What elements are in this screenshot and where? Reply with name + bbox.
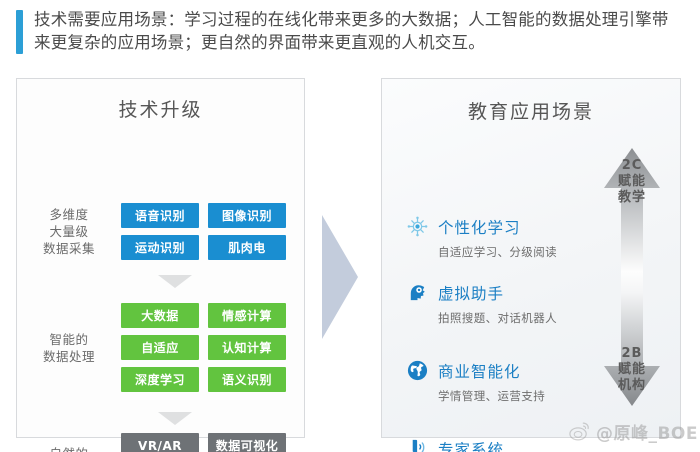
chip[interactable]: 情感计算: [208, 303, 286, 328]
tier-chips: 语音识别 图像识别 运动识别 肌肉电: [121, 203, 293, 260]
tier-data-collection: 多维度大量级数据采集 语音识别 图像识别 运动识别 肌肉电: [17, 203, 306, 260]
tier-chips: VR/AR 数据可视化 机器人 3D打印: [121, 433, 293, 452]
scene-subtitle: 自适应学习、分级阅读: [438, 244, 616, 260]
network-nodes-icon: [406, 215, 429, 238]
chip[interactable]: 语音识别: [121, 203, 199, 228]
scene-title: 商业智能化: [438, 360, 521, 382]
header-text: 技术需要应用场景：学习过程的在线化带来更多的大数据；人工智能的数据处理引擎带来更…: [34, 8, 684, 54]
chip[interactable]: 数据可视化: [208, 433, 286, 452]
scene-title: 个性化学习: [438, 216, 521, 238]
chip[interactable]: 运动识别: [121, 235, 199, 260]
scene-subtitle: 学情管理、运营支持: [438, 388, 616, 404]
double-headed-vertical-arrow-icon: 2C赋能教学 2B赋能机构: [604, 148, 660, 406]
down-arrow-icon: [158, 275, 192, 288]
chip[interactable]: 认知计算: [208, 335, 286, 360]
left-panel-title: 技术升级: [17, 95, 304, 122]
chip[interactable]: VR/AR: [121, 433, 199, 452]
tier-human-interface: 自然的人机界面 VR/AR 数据可视化 机器人 3D打印: [17, 433, 306, 452]
chip[interactable]: 自适应: [121, 335, 199, 360]
arrow-bottom-label: 2B赋能机构: [604, 346, 660, 394]
infographic-page: 技术需要应用场景：学习过程的在线化带来更多的大数据；人工智能的数据处理引擎带来更…: [0, 0, 700, 452]
down-arrow-icon: [158, 412, 192, 425]
tier-data-processing: 智能的数据处理 大数据 情感计算 自适应 认知计算 深度学习 语义识别: [17, 303, 306, 392]
speaker-person-icon: [406, 437, 429, 452]
head-gear-icon: [406, 281, 429, 304]
weibo-icon: [568, 420, 591, 443]
tier-label: 自然的人机界面: [17, 445, 121, 452]
scene-virtual-assistant[interactable]: 虚拟助手 拍照搜题、对话机器人: [406, 281, 616, 326]
scene-title: 虚拟助手: [438, 282, 504, 304]
chip[interactable]: 肌肉电: [208, 235, 286, 260]
right-panel-title: 教育应用场景: [382, 97, 680, 124]
watermark: @原峰_BOE: [568, 419, 698, 444]
chip[interactable]: 图像识别: [208, 203, 286, 228]
globe-icon: [406, 359, 429, 382]
scene-personalized-learning[interactable]: 个性化学习 自适应学习、分级阅读: [406, 215, 616, 260]
header: 技术需要应用场景：学习过程的在线化带来更多的大数据；人工智能的数据处理引擎带来更…: [0, 0, 700, 62]
tier-chips: 大数据 情感计算 自适应 认知计算 深度学习 语义识别: [121, 303, 293, 392]
right-triangle-arrow-icon: [322, 215, 358, 339]
chip[interactable]: 语义识别: [208, 367, 286, 392]
scene-subtitle: 拍照搜题、对话机器人: [438, 310, 616, 326]
tier-label: 智能的数据处理: [17, 331, 121, 365]
accent-bar: [16, 10, 23, 54]
left-panel: 技术升级 多维度大量级数据采集 语音识别 图像识别 运动识别 肌肉电 智能的数据…: [16, 78, 305, 438]
chip[interactable]: 深度学习: [121, 367, 199, 392]
scene-title: 专家系统: [438, 438, 504, 452]
scene-business-intelligence[interactable]: 商业智能化 学情管理、运营支持: [406, 359, 616, 404]
tier-label: 多维度大量级数据采集: [17, 206, 121, 257]
watermark-text: @原峰_BOE: [596, 419, 698, 444]
arrow-top-label: 2C赋能教学: [604, 158, 660, 206]
chip[interactable]: 大数据: [121, 303, 199, 328]
